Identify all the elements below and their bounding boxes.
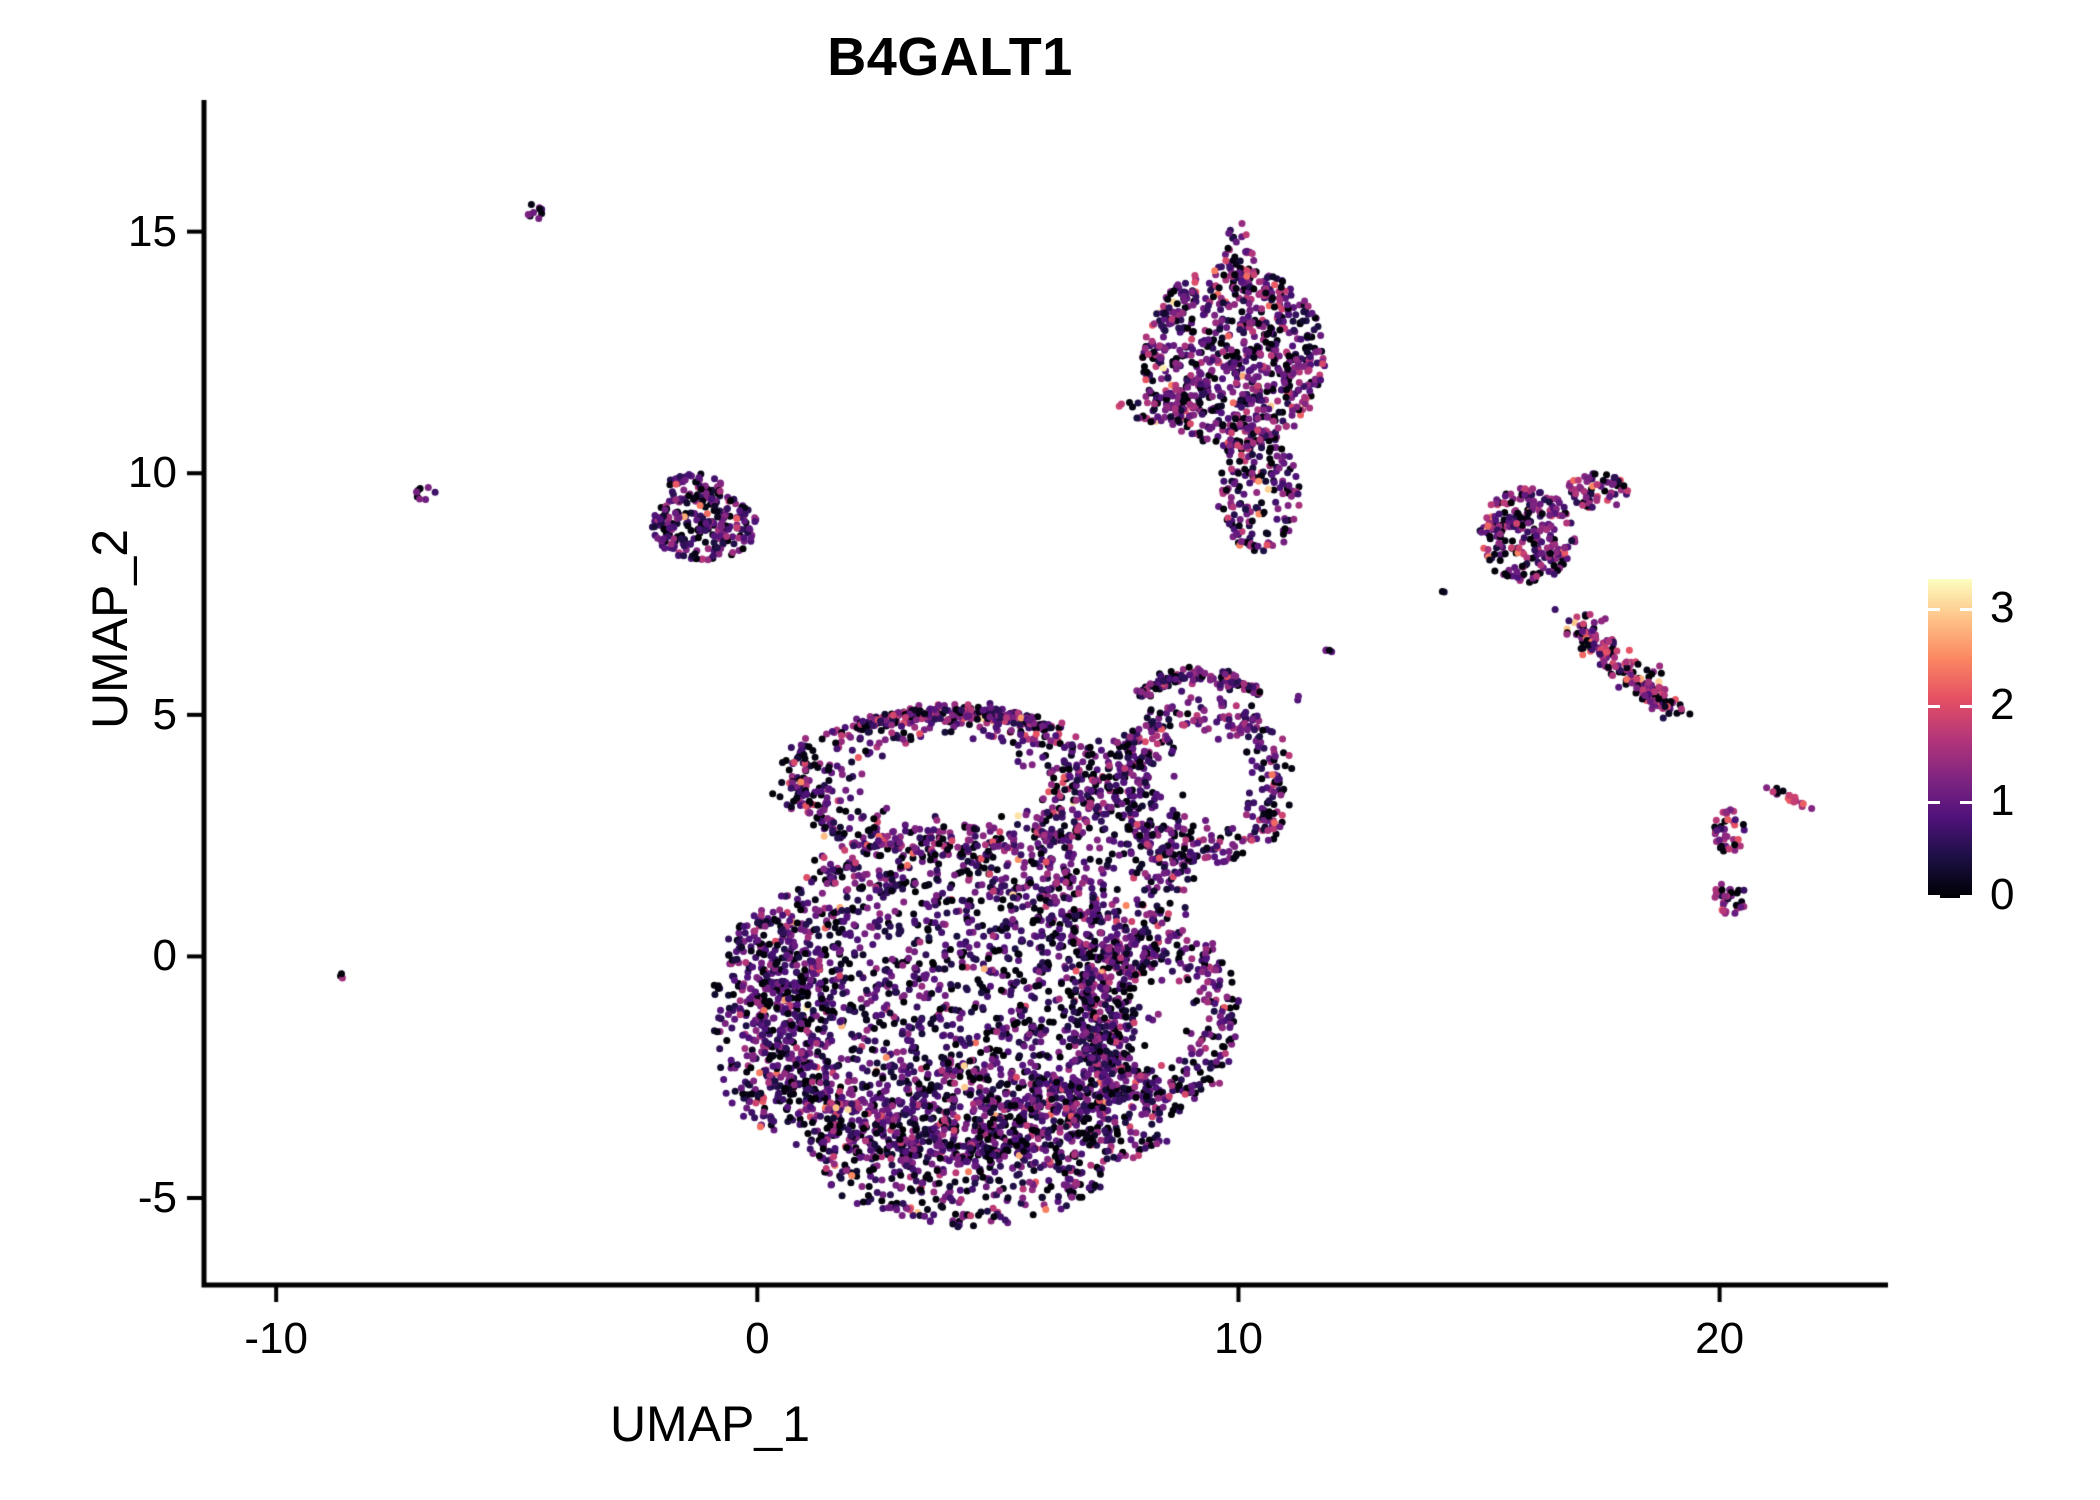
colorbar-tick-mark	[1928, 608, 1940, 611]
scatter-plot-canvas	[0, 0, 2100, 1500]
colorbar-tick-mark	[1960, 705, 1972, 708]
colorbar-tick-label: 1	[1990, 776, 2014, 826]
colorbar-tick-mark	[1960, 801, 1972, 804]
colorbar-tick-label: 3	[1990, 583, 2014, 633]
colorbar-tick-label: 0	[1990, 870, 2014, 920]
colorbar-tick-mark	[1928, 895, 1940, 898]
x-axis-label: UMAP_1	[0, 1395, 1420, 1453]
colorbar-gradient	[1928, 579, 1972, 898]
x-tick-label: 20	[1695, 1314, 1744, 1364]
y-axis-label: UMAP_2	[81, 279, 139, 979]
colorbar-tick-mark	[1960, 608, 1972, 611]
colorbar-tick-label: 2	[1990, 680, 2014, 730]
umap-feature-plot: B4GALT1 -1001020-5051015 UMAP_1 UMAP_2 0…	[0, 0, 2100, 1500]
x-tick-label: 10	[1214, 1314, 1263, 1364]
colorbar-tick-mark	[1960, 895, 1972, 898]
y-tick-label: 15	[27, 207, 177, 257]
y-tick-label: -5	[27, 1173, 177, 1223]
colorbar-tick-mark	[1928, 801, 1940, 804]
x-tick-label: -10	[244, 1314, 308, 1364]
plot-canvas-container	[0, 0, 2100, 1500]
x-tick-label: 0	[745, 1314, 769, 1364]
colorbar-tick-mark	[1928, 705, 1940, 708]
